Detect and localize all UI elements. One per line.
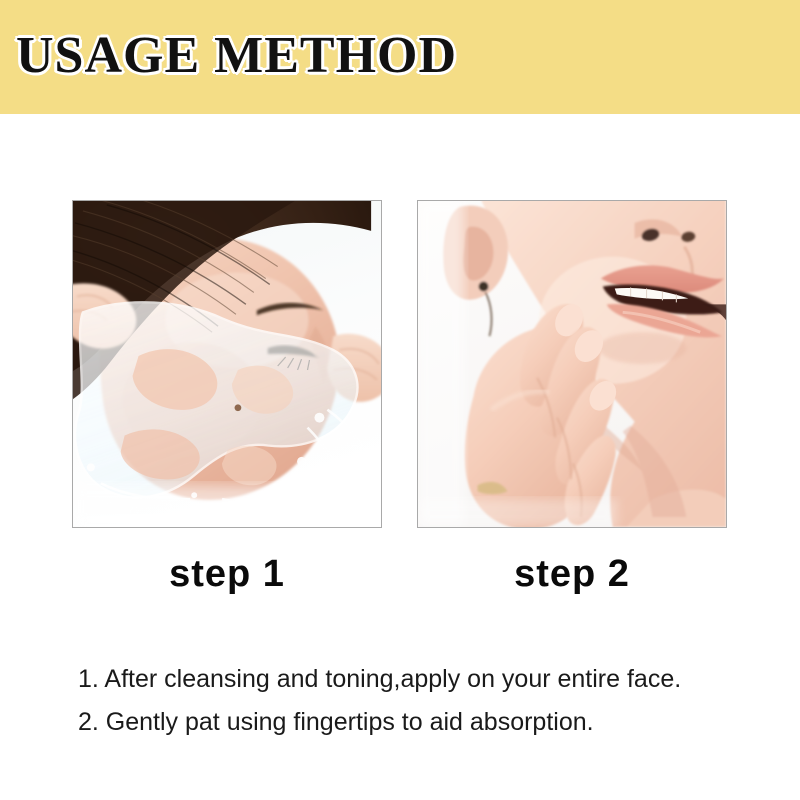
instruction-list: 1. After cleansing and toning,apply on y… <box>78 658 758 744</box>
step-2-label: step 2 <box>417 552 727 596</box>
woman-patting-cheek-with-fingertips-photo <box>418 201 726 527</box>
page-title: USAGE METHOD <box>16 27 457 85</box>
step-1-photo-frame <box>72 200 382 528</box>
instruction-line-1: 1. After cleansing and toning,apply on y… <box>78 658 758 701</box>
step-2-photo-frame <box>417 200 727 528</box>
woman-washing-face-with-water-photo <box>73 201 381 527</box>
header-banner: USAGE METHOD <box>0 0 800 114</box>
step-1-label: step 1 <box>72 552 382 596</box>
instruction-line-2: 2. Gently pat using fingertips to aid ab… <box>78 701 758 744</box>
